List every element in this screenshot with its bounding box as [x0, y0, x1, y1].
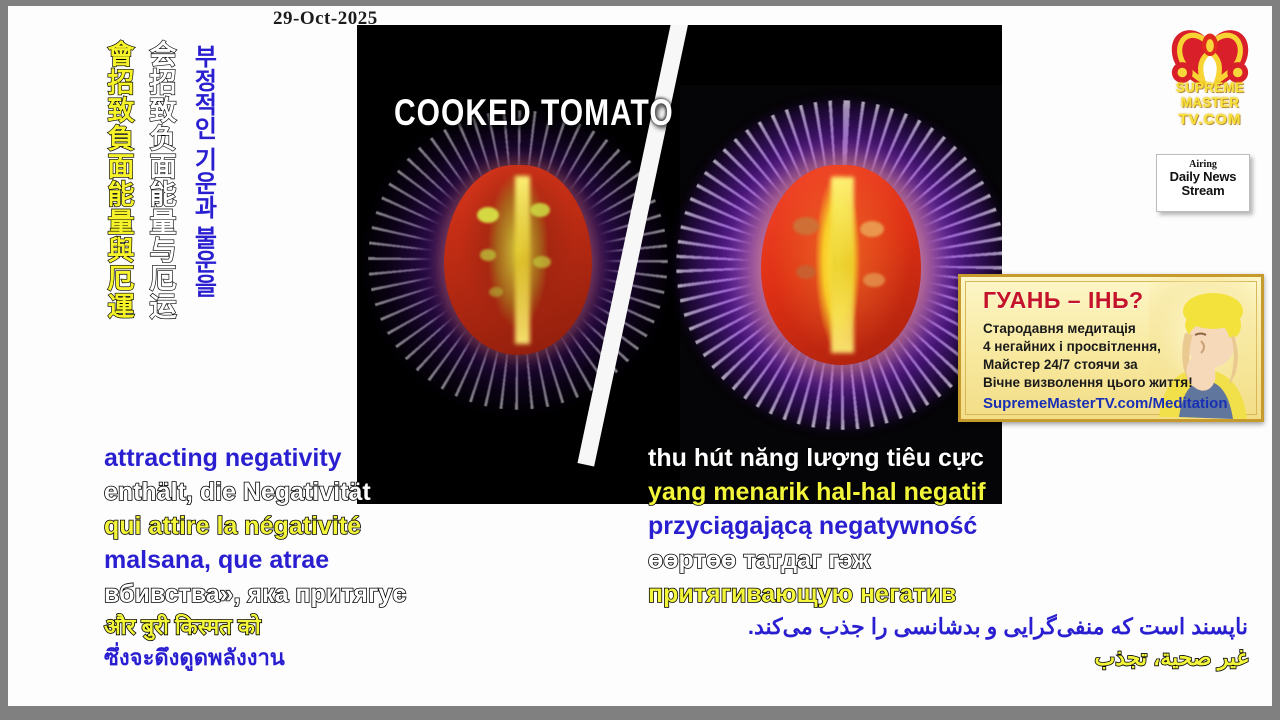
banner-title: ГУАНЬ – ІНЬ?	[983, 287, 1144, 314]
subtitle-line-uk: вбивства», яка притягує	[104, 582, 664, 607]
subtitle-column-right: thu hút năng lượng tiêu cựcyang menarik …	[648, 446, 1248, 678]
subtitle-line-th: ซึ่งจะดึงดูดพลังงาน	[104, 647, 664, 669]
raw-panel-top-mask	[680, 25, 1003, 85]
subtitle-line-fr: qui attire la négativité	[104, 514, 664, 539]
seed-highlight	[533, 256, 551, 268]
airing-program-type: Stream	[1157, 184, 1249, 198]
seed-highlight	[793, 217, 819, 235]
meditation-promo-banner[interactable]: ГУАНЬ – ІНЬ? Стародавня медитація 4 нега…	[958, 274, 1264, 422]
seed-highlight	[477, 207, 499, 223]
raw-tomato-panel: RAW TOMATO	[680, 25, 1003, 504]
tomato-midrib	[831, 177, 853, 353]
video-label-cooked: COOKED TOMATO	[394, 93, 674, 134]
broadcast-screen: 29-Oct-2025 會招致負面能量與厄運 会招致负面能量与厄运 부정적인 기…	[0, 0, 1280, 720]
subtitle-line-es: malsana, que atrae	[104, 548, 664, 573]
logo-text-supreme-master: SUPREME MASTER	[1150, 80, 1270, 110]
tomato-midrib	[515, 176, 530, 343]
vertical-title-chinese-simplified: 会招致负面能量与厄运	[146, 40, 174, 320]
subtitle-line-pl: przyciągającą negatywność	[648, 514, 1248, 539]
banner-line-2: 4 негайних і просвітлення,	[983, 339, 1161, 354]
subtitle-line-ar: غير صحية، تجذب	[648, 647, 1248, 669]
subtitle-line-ru: притягивающую негатив	[648, 582, 1248, 607]
subtitle-line-fa: ناپسند است که منفی‌گرایی و بدشانسی را جذ…	[648, 616, 1248, 638]
seed-highlight	[860, 221, 884, 237]
vertical-title-korean: 부정적인 기운과 불운을	[190, 44, 214, 297]
banner-line-3: Майстер 24/7 стоячи за	[983, 357, 1138, 372]
banner-url[interactable]: SupremeMasterTV.com/Meditation	[983, 395, 1228, 412]
seed-highlight	[489, 287, 503, 297]
seed-highlight	[796, 265, 816, 279]
banner-line-1: Стародавня медитація	[983, 321, 1136, 336]
subtitle-line-de: enthält, die Negativität	[104, 480, 664, 505]
subtitle-column-left: attracting negativityenthält, die Negati…	[104, 446, 664, 678]
cooked-tomato-image	[444, 165, 592, 355]
page-canvas: 29-Oct-2025 會招致負面能量與厄運 会招致负面能量与厄运 부정적인 기…	[8, 6, 1272, 706]
vertical-title-chinese-traditional: 會招致負面能量與厄運	[104, 40, 132, 320]
raw-tomato-image	[761, 165, 921, 365]
supreme-master-tv-logo: SUPREME MASTER TV.COM	[1150, 24, 1270, 134]
airing-program-name: Daily News	[1157, 170, 1249, 184]
airing-badge: Airing Daily News Stream	[1156, 154, 1250, 212]
subtitle-line-hi: और बुरी किस्मत को	[104, 616, 664, 638]
video-player-frame[interactable]: COOKED TOMATO RAW TOMATO	[357, 25, 1002, 504]
logo-text-tvcom: TV.COM	[1150, 111, 1270, 128]
subtitle-line-mn: өөртөө татдаг гэж	[648, 548, 1248, 573]
banner-line-4: Вічне визволення цього життя!	[983, 375, 1193, 390]
seed-highlight	[480, 249, 496, 261]
subtitle-line-id: yang menarik hal-hal negatif	[648, 480, 1248, 505]
seed-highlight	[863, 273, 885, 287]
subtitle-line-vi: thu hút năng lượng tiêu cực	[648, 446, 1248, 471]
seed-highlight	[530, 203, 550, 217]
